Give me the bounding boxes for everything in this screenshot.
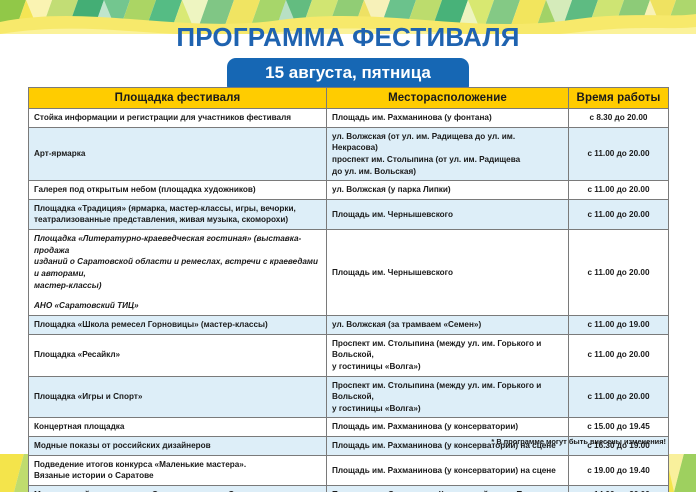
column-header-location: Месторасположение bbox=[327, 88, 569, 109]
table-row: Площадка «Литературно-краеведческая гост… bbox=[29, 230, 669, 316]
cell-time: с 19.00 до 19.40 bbox=[569, 455, 669, 485]
table-row: Площадка «Школа ремесел Горновицы» (маст… bbox=[29, 315, 669, 334]
cell-time: с 11.00 до 20.00 bbox=[569, 334, 669, 376]
cell-location: Площадь им. Чернышевского bbox=[327, 199, 569, 229]
table-row: Подведение итогов конкурса «Маленькие ма… bbox=[29, 455, 669, 485]
table-header-row: Площадка фестиваля Месторасположение Вре… bbox=[29, 88, 669, 109]
table-body: Стойка информации и регистрации для учас… bbox=[29, 109, 669, 492]
cell-location: ул. Волжская (за трамваем «Семен») bbox=[327, 315, 569, 334]
page-title: ПРОГРАММА ФЕСТИВАЛЯ bbox=[0, 22, 696, 53]
column-header-venue: Площадка фестиваля bbox=[29, 88, 327, 109]
table-head: Площадка фестиваля Месторасположение Вре… bbox=[29, 88, 669, 109]
cell-location: Проспект им. Столыпина, Культурный центр… bbox=[327, 486, 569, 492]
cell-venue-extra: АНО «Саратовский ТИЦ» bbox=[34, 300, 321, 312]
cell-venue: Модные показы от российских дизайнеров bbox=[29, 437, 327, 456]
cell-time: с 11.00 до 20.00 bbox=[569, 376, 669, 418]
table-row: Мультимедийная выставка «Ожившая история… bbox=[29, 486, 669, 492]
column-header-time: Время работы bbox=[569, 88, 669, 109]
cell-time: с 11.00 до 19.00 bbox=[569, 315, 669, 334]
cell-time: с 8.30 до 20.00 bbox=[569, 109, 669, 128]
program-table: Площадка фестиваля Месторасположение Вре… bbox=[28, 87, 669, 492]
cell-venue: Арт-ярмарка bbox=[29, 127, 327, 181]
cell-location: ул. Волжская (от ул. им. Радищева до ул.… bbox=[327, 127, 569, 181]
cell-location: Проспект им. Столыпина (между ул. им. Го… bbox=[327, 376, 569, 418]
cell-venue: Концертная площадка bbox=[29, 418, 327, 437]
cell-location: ул. Волжская (у парка Липки) bbox=[327, 181, 569, 200]
cell-time: с 11.00 до 20.00 bbox=[569, 230, 669, 316]
cell-time: с 15.00 до 19.45 bbox=[569, 418, 669, 437]
cell-venue: Галерея под открытым небом (площадка худ… bbox=[29, 181, 327, 200]
cell-time: с 14.00 до 20.00 bbox=[569, 486, 669, 492]
cell-time: с 11.00 до 20.00 bbox=[569, 127, 669, 181]
festival-program-poster: ПРОГРАММА ФЕСТИВАЛЯ 15 августа, пятница … bbox=[0, 0, 696, 492]
cell-venue: Площадка «Ресайкл» bbox=[29, 334, 327, 376]
cell-location: Проспект им. Столыпина (между ул. им. Го… bbox=[327, 334, 569, 376]
cell-venue: Площадка «Школа ремесел Горновицы» (маст… bbox=[29, 315, 327, 334]
table-row: Площадка «Игры и Спорт»Проспект им. Стол… bbox=[29, 376, 669, 418]
cell-time: с 11.00 до 20.00 bbox=[569, 199, 669, 229]
cell-spacer bbox=[34, 291, 321, 300]
cell-venue: Площадка «Литературно-краеведческая гост… bbox=[29, 230, 327, 316]
date-banner: 15 августа, пятница bbox=[227, 58, 469, 89]
cell-location: Площадь им. Рахманинова (у консерватории… bbox=[327, 455, 569, 485]
cell-venue: Площадка «Традиция» (ярмарка, мастер-кла… bbox=[29, 199, 327, 229]
table-row: Галерея под открытым небом (площадка худ… bbox=[29, 181, 669, 200]
cell-venue: Стойка информации и регистрации для учас… bbox=[29, 109, 327, 128]
table-row: Арт-ярмаркаул. Волжская (от ул. им. Ради… bbox=[29, 127, 669, 181]
cell-venue: Подведение итогов конкурса «Маленькие ма… bbox=[29, 455, 327, 485]
program-change-note: * В программе могут быть внесены изменен… bbox=[491, 437, 666, 446]
program-table-container: Площадка фестиваля Месторасположение Вре… bbox=[28, 87, 668, 492]
cell-venue: Мультимедийная выставка «Ожившая история… bbox=[29, 486, 327, 492]
table-row: Площадка «Ресайкл»Проспект им. Столыпина… bbox=[29, 334, 669, 376]
cell-location: Площадь им. Чернышевского bbox=[327, 230, 569, 316]
table-row: Концертная площадкаПлощадь им. Рахманино… bbox=[29, 418, 669, 437]
cell-location: Площадь им. Рахманинова (у консерватории… bbox=[327, 418, 569, 437]
table-row: Стойка информации и регистрации для учас… bbox=[29, 109, 669, 128]
cell-location: Площадь им. Рахманинова (у фонтана) bbox=[327, 109, 569, 128]
cell-venue: Площадка «Игры и Спорт» bbox=[29, 376, 327, 418]
cell-time: с 11.00 до 20.00 bbox=[569, 181, 669, 200]
table-row: Площадка «Традиция» (ярмарка, мастер-кла… bbox=[29, 199, 669, 229]
